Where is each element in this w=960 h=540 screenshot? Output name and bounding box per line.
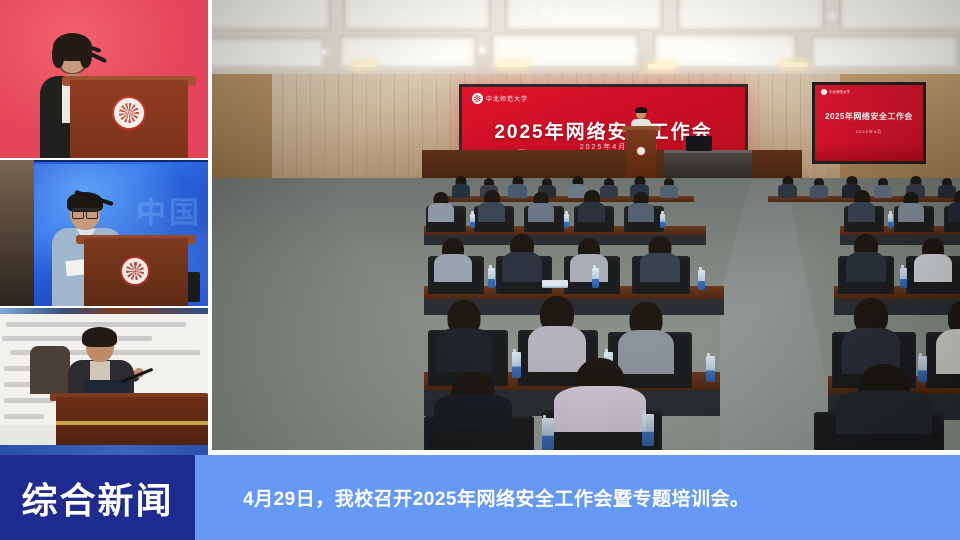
upper-photo-edge bbox=[0, 308, 208, 314]
university-emblem-icon bbox=[120, 256, 150, 286]
caption-text: 4月29日，我校召开2025年网络安全工作会暨专题培训会。 bbox=[243, 484, 749, 511]
thumbnail-column: 中国 bbox=[0, 0, 208, 455]
side-screen-right-org: 中北师范大学 bbox=[829, 90, 850, 95]
side-screen-right-subtitle: 2025年4月 bbox=[815, 129, 923, 135]
caption-text-area: 4月29日，我校召开2025年网络安全工作会暨专题培训会。 bbox=[195, 455, 960, 540]
ceiling bbox=[212, 0, 960, 78]
caption-bar: 综合新闻 4月29日，我校召开2025年网络安全工作会暨专题培训会。 bbox=[0, 455, 960, 540]
stage-table bbox=[664, 150, 752, 178]
lower-photo-edge bbox=[0, 445, 208, 455]
news-photo-page: 中国 bbox=[0, 0, 960, 540]
stage-monitor bbox=[686, 136, 712, 151]
thumbnail-photo-3[interactable] bbox=[0, 308, 208, 455]
thumbnail-photo-2[interactable]: 中国 bbox=[0, 160, 208, 306]
thumbnail-photo-1[interactable] bbox=[0, 0, 208, 158]
category-tag-label: 综合新闻 bbox=[21, 472, 173, 524]
side-screen-right-title: 2025年网络安全工作会 bbox=[815, 111, 923, 122]
university-emblem-icon bbox=[472, 93, 483, 104]
university-emblem-icon bbox=[636, 146, 646, 156]
wall-pillar bbox=[0, 160, 34, 306]
university-logo: 中北师范大学 bbox=[472, 93, 528, 104]
wood-panel-left bbox=[212, 74, 272, 194]
lectern-trim bbox=[56, 421, 208, 425]
main-photo[interactable]: 中北师范大学 2025年网络安全工作会 2025年4月 中北师范大学 2025年… bbox=[212, 0, 960, 450]
chair bbox=[30, 346, 70, 394]
photo-collage: 中国 bbox=[0, 0, 960, 455]
side-screen-right: 中北师范大学 2025年网络安全工作会 2025年4月 bbox=[812, 82, 926, 164]
university-name: 中北师范大学 bbox=[486, 94, 528, 103]
conference-hall-scene: 中北师范大学 2025年网络安全工作会 2025年4月 中北师范大学 2025年… bbox=[212, 0, 960, 450]
university-emblem-icon bbox=[112, 96, 146, 130]
screen-faint-text: 中国 bbox=[136, 188, 202, 232]
category-tag[interactable]: 综合新闻 bbox=[0, 455, 195, 540]
